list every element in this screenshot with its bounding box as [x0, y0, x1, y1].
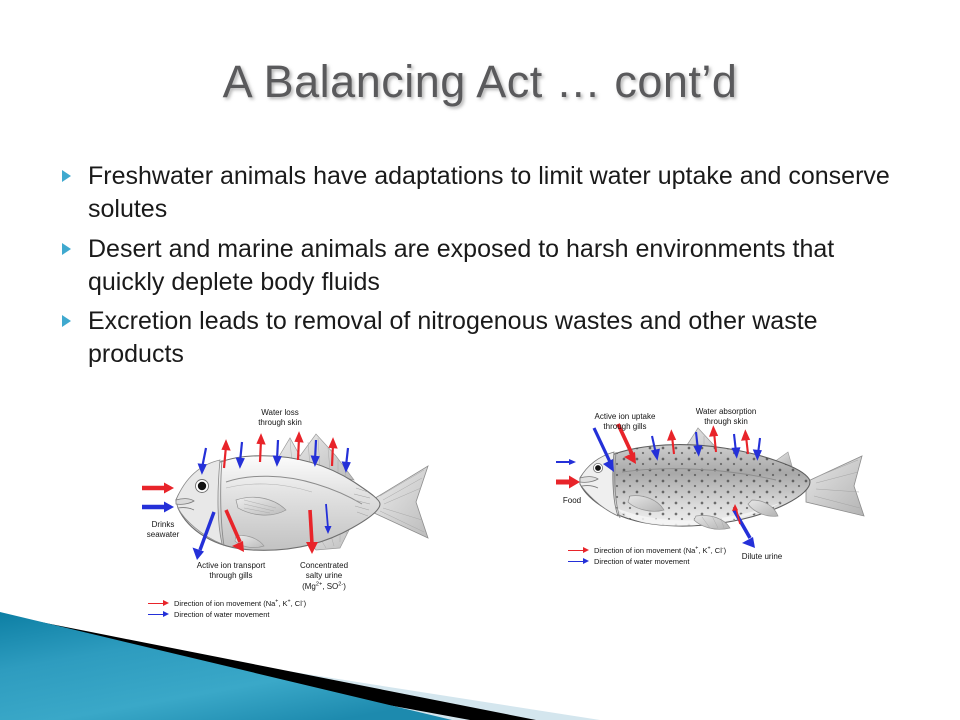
- bullet-text: Freshwater animals have adaptations to l…: [88, 160, 912, 227]
- legend-water-row: Direction of water movement: [568, 556, 726, 567]
- marine-gills-label: Active ion transport through gills: [168, 561, 294, 581]
- decor-teal-wedge: [0, 612, 452, 720]
- legend-ion-text: Direction of ion movement (Na+, K+, Cl-): [594, 545, 726, 556]
- legend-ion-text: Direction of ion movement (Na+, K+, Cl-): [174, 598, 306, 609]
- marine-urine-formula: (Mg2+, SO2-): [302, 582, 346, 591]
- list-item: Excretion leads to removal of nitrogenou…: [62, 305, 912, 372]
- legend-water-row: Direction of water movement: [148, 609, 306, 620]
- legend-water-text: Direction of water movement: [594, 556, 689, 567]
- red-arrow-icon: [148, 600, 170, 608]
- freshwater-food-label: Food: [550, 496, 594, 506]
- marine-drinks-seawater-label: Drinks seawater: [132, 520, 194, 540]
- bullet-triangle-icon: [62, 160, 88, 187]
- slide-canvas: A Balancing Act … cont’d Freshwater anim…: [0, 0, 960, 720]
- bullet-text: Excretion leads to removal of nitrogenou…: [88, 305, 912, 372]
- marine-urine-label: Concentrated salty urine (Mg2+, SO2-): [282, 561, 366, 592]
- list-item: Desert and marine animals are exposed to…: [62, 233, 912, 300]
- legend-ion-row: Direction of ion movement (Na+, K+, Cl-): [148, 598, 306, 609]
- marine-top-label: Water loss through skin: [232, 408, 328, 428]
- page-title: A Balancing Act … cont’d: [0, 56, 960, 108]
- marine-legend: Direction of ion movement (Na+, K+, Cl-)…: [148, 598, 306, 621]
- decor-black-stripe: [0, 614, 536, 720]
- bullet-text: Desert and marine animals are exposed to…: [88, 233, 912, 300]
- red-arrow-icon: [568, 547, 590, 555]
- freshwater-urine-label: Dilute urine: [724, 552, 800, 562]
- bullet-list: Freshwater animals have adaptations to l…: [62, 160, 912, 378]
- bullet-triangle-icon: [62, 233, 88, 260]
- freshwater-fish-osmoregulation-diagram: Active ion uptake through gills Water ab…: [556, 412, 876, 592]
- legend-ion-row: Direction of ion movement (Na+, K+, Cl-): [568, 545, 726, 556]
- freshwater-legend: Direction of ion movement (Na+, K+, Cl-)…: [568, 545, 726, 568]
- blue-arrow-icon: [148, 611, 170, 619]
- bullet-triangle-icon: [62, 305, 88, 332]
- legend-water-text: Direction of water movement: [174, 609, 269, 620]
- freshwater-top-label: Water absorption through skin: [672, 407, 780, 427]
- freshwater-gills-label: Active ion uptake through gills: [570, 412, 680, 432]
- decor-pale-band: [0, 626, 600, 720]
- marine-fish-osmoregulation-diagram: Water loss through skin Drinks seawater …: [140, 408, 440, 618]
- blue-arrow-icon: [568, 558, 590, 566]
- list-item: Freshwater animals have adaptations to l…: [62, 160, 912, 227]
